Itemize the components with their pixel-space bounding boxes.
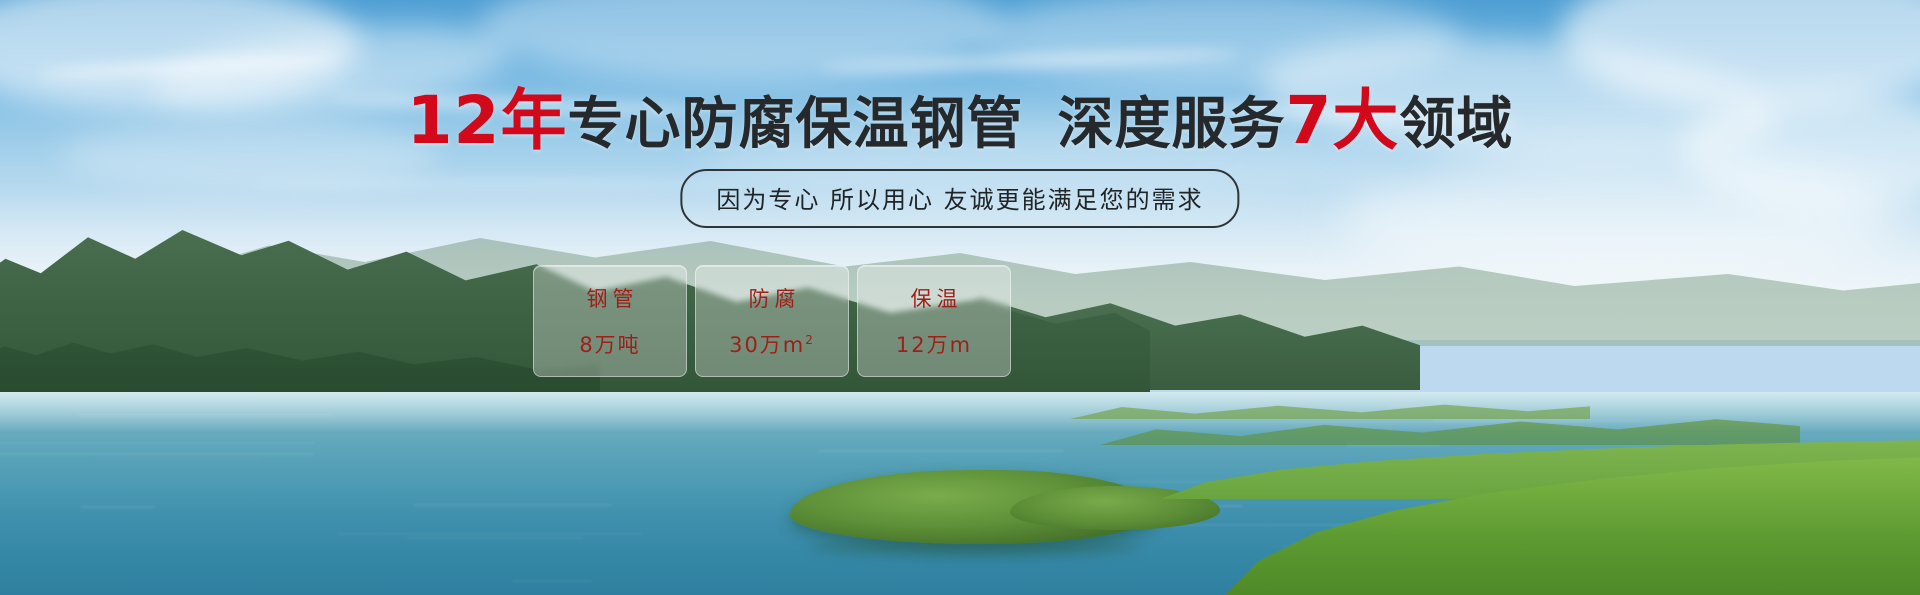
stat-card-anticorrosion[interactable]: 防腐 30万m2 bbox=[695, 265, 849, 377]
stat-card-insulation[interactable]: 保温 12万m bbox=[857, 265, 1011, 377]
stat-card-value: 30万m2 bbox=[729, 329, 815, 359]
stat-card-steel-pipe[interactable]: 钢管 8万吨 bbox=[533, 265, 687, 377]
water-ripple bbox=[0, 453, 314, 455]
stat-card-title: 保温 bbox=[906, 283, 963, 313]
stat-card-title: 防腐 bbox=[744, 283, 801, 313]
hero-banner: 12年专心防腐保温钢管深度服务7大领域 因为专心 所以用心 友诚更能满足您的需求… bbox=[0, 0, 1920, 595]
stat-card-title: 钢管 bbox=[582, 283, 639, 313]
stat-value-text: 30万m bbox=[729, 333, 805, 357]
water-ripple bbox=[81, 506, 155, 508]
banner-headline: 12年专心防腐保温钢管深度服务7大领域 bbox=[0, 86, 1920, 155]
subtitle-text: 因为专心 所以用心 友诚更能满足您的需求 bbox=[716, 180, 1203, 215]
water-highlight bbox=[0, 392, 1920, 432]
headline-main-text: 专心防腐保温钢管 bbox=[567, 92, 1023, 157]
stat-value-text: 8万吨 bbox=[579, 333, 640, 357]
stat-card-value: 8万吨 bbox=[579, 329, 640, 359]
water-ripple bbox=[818, 450, 1064, 452]
water-ripple bbox=[407, 537, 583, 539]
water-ripple bbox=[338, 533, 643, 535]
headline-fields-highlight: 7大 bbox=[1285, 82, 1399, 159]
stat-card-value: 12万m bbox=[896, 329, 972, 359]
cloud-wisp bbox=[250, 180, 750, 189]
water-ripple bbox=[0, 442, 315, 444]
water-ripple bbox=[413, 504, 612, 506]
subtitle-pill: 因为专心 所以用心 友诚更能满足您的需求 bbox=[680, 169, 1239, 228]
water-ripple bbox=[95, 457, 257, 459]
stat-cards-group: 钢管 8万吨 防腐 30万m2 保温 12万m bbox=[533, 265, 1011, 377]
stat-value-text: 12万m bbox=[896, 333, 972, 357]
headline-fields-text: 领域 bbox=[1399, 92, 1513, 157]
headline-service-text: 深度服务 bbox=[1057, 92, 1285, 157]
stat-value-superscript: 2 bbox=[805, 333, 815, 347]
headline-years-highlight: 12年 bbox=[407, 82, 568, 159]
water-ripple bbox=[512, 580, 592, 582]
